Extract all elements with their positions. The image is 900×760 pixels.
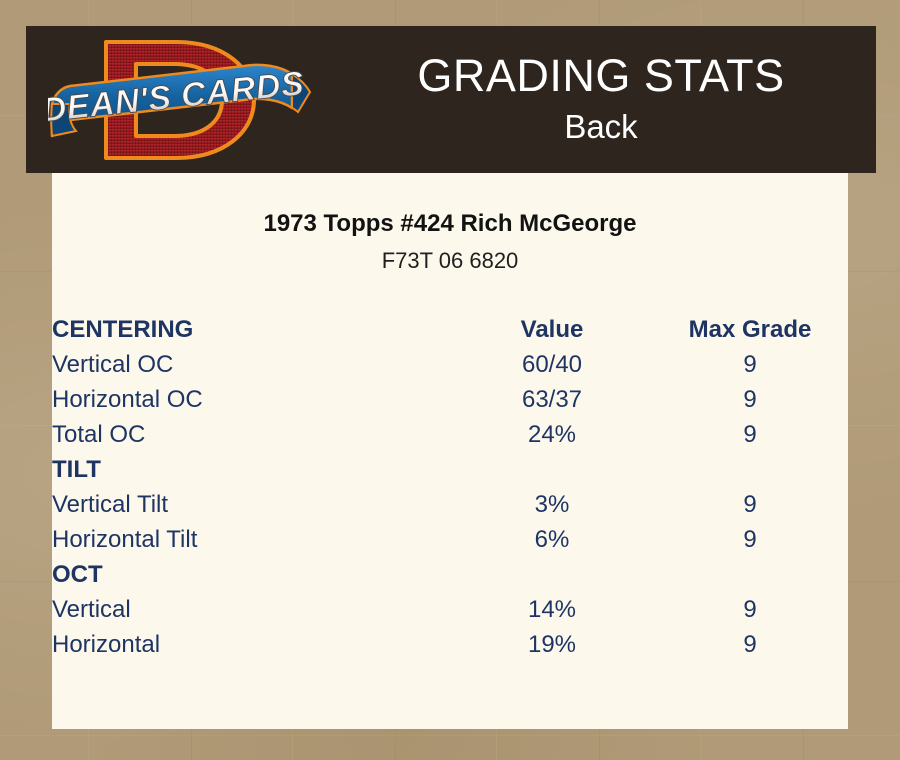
card-info: 1973 Topps #424 Rich McGeorge F73T 06 68… — [52, 173, 848, 274]
stat-value: 6% — [452, 522, 652, 557]
stat-label: Vertical Tilt — [52, 487, 452, 522]
stat-label: Vertical — [52, 592, 452, 627]
table-header-row: CENTERING Value Max Grade — [52, 312, 848, 347]
section-header-oct: OCT — [52, 557, 848, 592]
stat-value: 24% — [452, 417, 652, 452]
stat-max-grade: 9 — [652, 347, 848, 382]
stat-value: 60/40 — [452, 347, 652, 382]
card-title: 1973 Topps #424 Rich McGeorge — [52, 210, 848, 239]
table-row: Horizontal Tilt 6% 9 — [52, 522, 848, 557]
stat-label: Horizontal OC — [52, 382, 452, 417]
stat-label: Horizontal — [52, 627, 452, 662]
table-row: Vertical 14% 9 — [52, 592, 848, 627]
page-title: GRADING STATS — [417, 52, 784, 99]
stat-label: Vertical OC — [52, 347, 452, 382]
card-serial-number: F73T 06 6820 — [52, 248, 848, 274]
stat-max-grade: 9 — [652, 627, 848, 662]
header-titles: GRADING STATS Back — [326, 26, 876, 173]
stat-max-grade: 9 — [652, 592, 848, 627]
table-row: Total OC 24% 9 — [52, 417, 848, 452]
page-subtitle: Back — [564, 106, 637, 147]
stat-max-grade: 9 — [652, 522, 848, 557]
table-row: Horizontal OC 63/37 9 — [52, 382, 848, 417]
deans-cards-logo[interactable]: DEAN'S CARDS — [48, 30, 316, 170]
grading-stats-table: CENTERING Value Max Grade Vertical OC 60… — [52, 312, 848, 662]
stats-table-body: Vertical OC 60/40 9 Horizontal OC 63/37 … — [52, 347, 848, 662]
stat-value: 63/37 — [452, 382, 652, 417]
table-row: Vertical Tilt 3% 9 — [52, 487, 848, 522]
stat-max-grade: 9 — [652, 382, 848, 417]
stat-label: Horizontal Tilt — [52, 522, 452, 557]
stat-value: 14% — [452, 592, 652, 627]
stat-max-grade: 9 — [652, 487, 848, 522]
section-title: TILT — [52, 452, 848, 487]
stat-value: 19% — [452, 627, 652, 662]
logo-banner: DEAN'S CARDS — [48, 64, 310, 136]
content-panel: 1973 Topps #424 Rich McGeorge F73T 06 68… — [52, 173, 848, 729]
stat-value: 3% — [452, 487, 652, 522]
column-header-value: Value — [452, 312, 652, 347]
table-row: Vertical OC 60/40 9 — [52, 347, 848, 382]
stat-label: Total OC — [52, 417, 452, 452]
section-title: OCT — [52, 557, 848, 592]
table-row: Horizontal 19% 9 — [52, 627, 848, 662]
header-band: DEAN'S CARDS GRADING STATS Back — [26, 26, 876, 173]
page-root: DEAN'S CARDS GRADING STATS Back 1973 Top… — [0, 0, 900, 760]
stats-table-head: CENTERING Value Max Grade — [52, 312, 848, 347]
section-header-tilt: TILT — [52, 452, 848, 487]
column-header-max-grade: Max Grade — [652, 312, 848, 347]
column-header-centering: CENTERING — [52, 312, 452, 347]
stat-max-grade: 9 — [652, 417, 848, 452]
